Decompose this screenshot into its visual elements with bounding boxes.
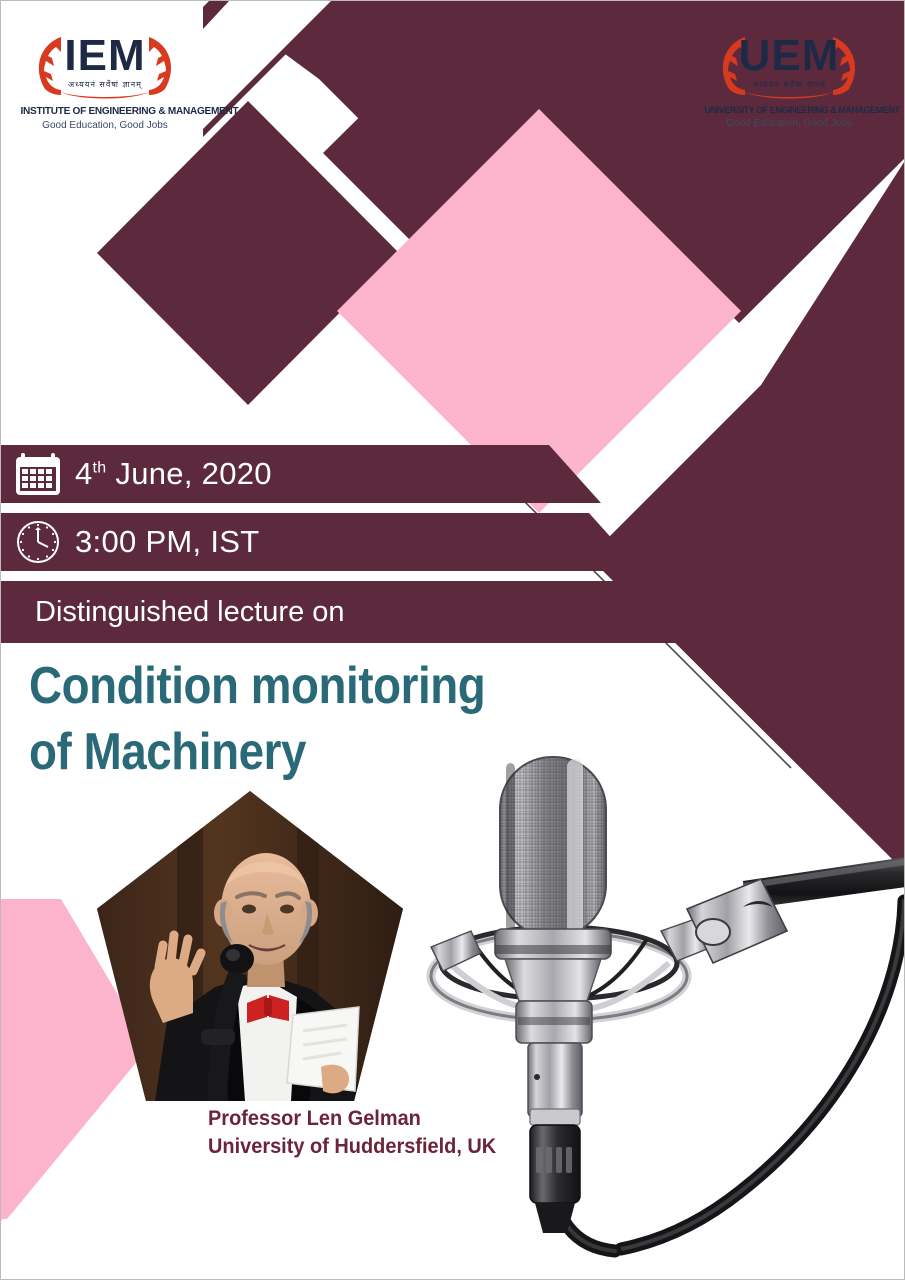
speaker-affiliation: University of Huddersfield, UK — [208, 1133, 496, 1161]
microphone-body — [516, 1001, 592, 1125]
microphone-head — [500, 757, 606, 937]
microphone-illustration — [1, 1, 905, 1280]
xlr-connector — [530, 1125, 580, 1233]
poster-canvas: IEM अध्ययनं सर्वेषां ज्ञानम् INSTITUTE O… — [0, 0, 905, 1280]
speaker-name: Professor Len Gelman — [208, 1105, 496, 1133]
speaker-credit: Professor Len Gelman University of Hudde… — [208, 1105, 496, 1161]
microphone-collar — [495, 929, 611, 1001]
